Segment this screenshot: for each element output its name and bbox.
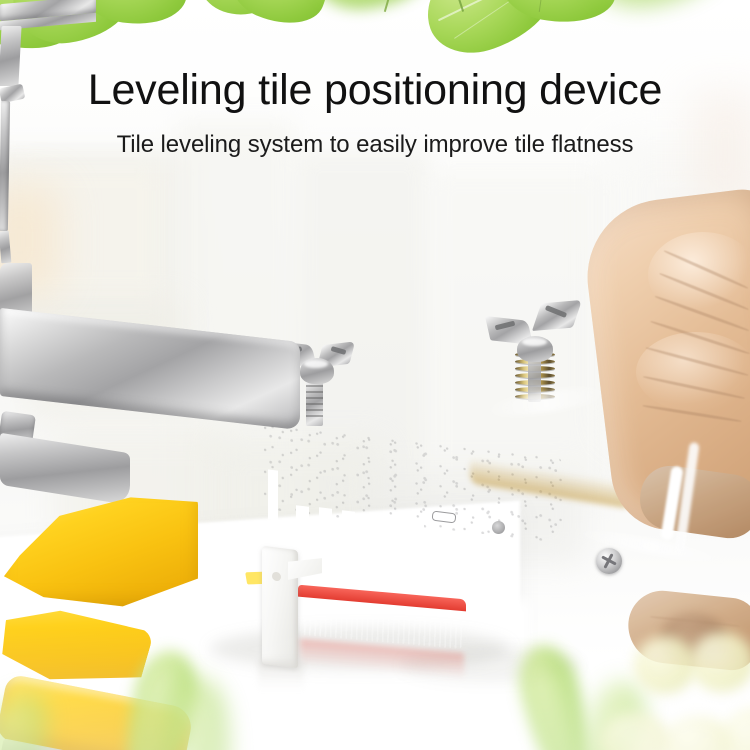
toothed-rack [0, 308, 300, 430]
bracket-left-vertical [0, 26, 22, 86]
rack-tooth [342, 510, 355, 527]
product-image-canvas: Leveling tile positioning device Tile le… [0, 0, 750, 750]
rack-tooth [411, 519, 424, 536]
rack-tooth [388, 516, 401, 533]
yellow-jaw [0, 495, 198, 611]
white-clip-hole [272, 571, 281, 581]
rack-tooth [319, 507, 332, 524]
hex-nut-hole [492, 521, 505, 534]
bottom-fade [0, 630, 750, 750]
wing-nut-right [487, 303, 579, 367]
rack-tooth [296, 505, 309, 522]
descending-arm [0, 101, 10, 232]
descending-arm-foot [0, 231, 11, 264]
rack-underside-gap [268, 469, 278, 520]
body-lower-block [0, 433, 130, 506]
rack-tooth [365, 513, 378, 530]
